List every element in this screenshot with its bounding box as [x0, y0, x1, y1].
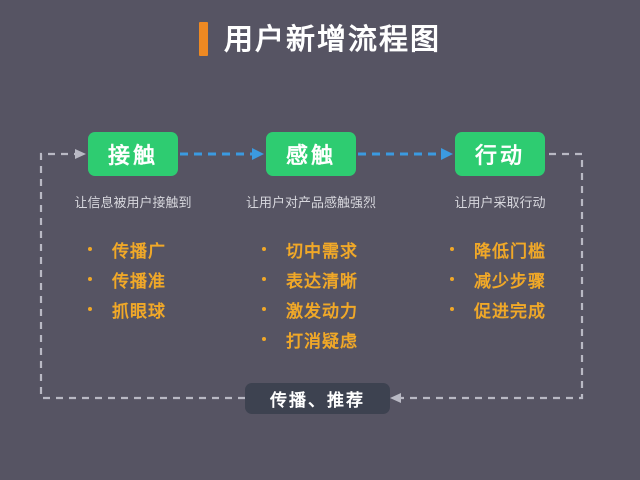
loop-box-share[interactable]: 传播、推荐	[245, 383, 390, 414]
list-item: 激发动力	[262, 294, 402, 324]
flow-arrowhead-2	[441, 148, 453, 160]
stage-box-action[interactable]: 行动	[455, 132, 545, 176]
list-item: 表达清晰	[262, 264, 402, 294]
bullet-label: 传播广	[112, 237, 166, 262]
list-item: 切中需求	[262, 234, 402, 264]
bullet-list-action: 降低门槛 减少步骤 促进完成	[450, 234, 590, 324]
diagram-canvas: 用户新增流程图 接触 感触 行动	[0, 0, 640, 480]
stage-label: 接触	[108, 138, 158, 170]
stage-box-feel[interactable]: 感触	[266, 132, 356, 176]
bullet-dot-icon	[450, 277, 454, 281]
list-item: 打消疑虑	[262, 324, 402, 354]
flow-arrow-1	[180, 148, 264, 160]
stage-label: 感触	[286, 138, 336, 170]
bullet-dot-icon	[450, 307, 454, 311]
list-item: 传播广	[88, 234, 218, 264]
bullet-label: 促进完成	[474, 297, 546, 322]
stage-box-contact[interactable]: 接触	[88, 132, 178, 176]
loop-box-label: 传播、推荐	[270, 386, 365, 411]
bullet-label: 打消疑虑	[286, 327, 358, 352]
stage-caption-contact: 让信息被用户接触到	[43, 192, 223, 211]
list-item: 减少步骤	[450, 264, 590, 294]
stage-caption-feel: 让用户对产品感触强烈	[228, 192, 394, 211]
bullet-label: 传播准	[112, 267, 166, 292]
bullet-dot-icon	[88, 307, 92, 311]
bullet-dot-icon	[262, 307, 266, 311]
bullet-dot-icon	[450, 247, 454, 251]
bullet-label: 激发动力	[286, 297, 358, 322]
bullet-list-contact: 传播广 传播准 抓眼球	[88, 234, 218, 324]
bullet-dot-icon	[262, 337, 266, 341]
bullet-dot-icon	[262, 277, 266, 281]
bullet-dot-icon	[88, 277, 92, 281]
bullet-list-feel: 切中需求 表达清晰 激发动力 打消疑虑	[262, 234, 402, 354]
list-item: 促进完成	[450, 294, 590, 324]
list-item: 抓眼球	[88, 294, 218, 324]
bullet-label: 切中需求	[286, 237, 358, 262]
bullet-dot-icon	[262, 247, 266, 251]
bullet-label: 减少步骤	[474, 267, 546, 292]
bullet-dot-icon	[88, 247, 92, 251]
stage-label: 行动	[475, 138, 525, 170]
bullet-label: 表达清晰	[286, 267, 358, 292]
flow-arrowhead-1	[252, 148, 264, 160]
bullet-label: 抓眼球	[112, 297, 166, 322]
list-item: 传播准	[88, 264, 218, 294]
bullet-label: 降低门槛	[474, 237, 546, 262]
loop-arrowhead-right	[75, 149, 86, 159]
stage-caption-action: 让用户采取行动	[410, 192, 590, 211]
list-item: 降低门槛	[450, 234, 590, 264]
flow-arrow-2	[358, 148, 453, 160]
loop-arrowhead-left	[390, 393, 401, 403]
